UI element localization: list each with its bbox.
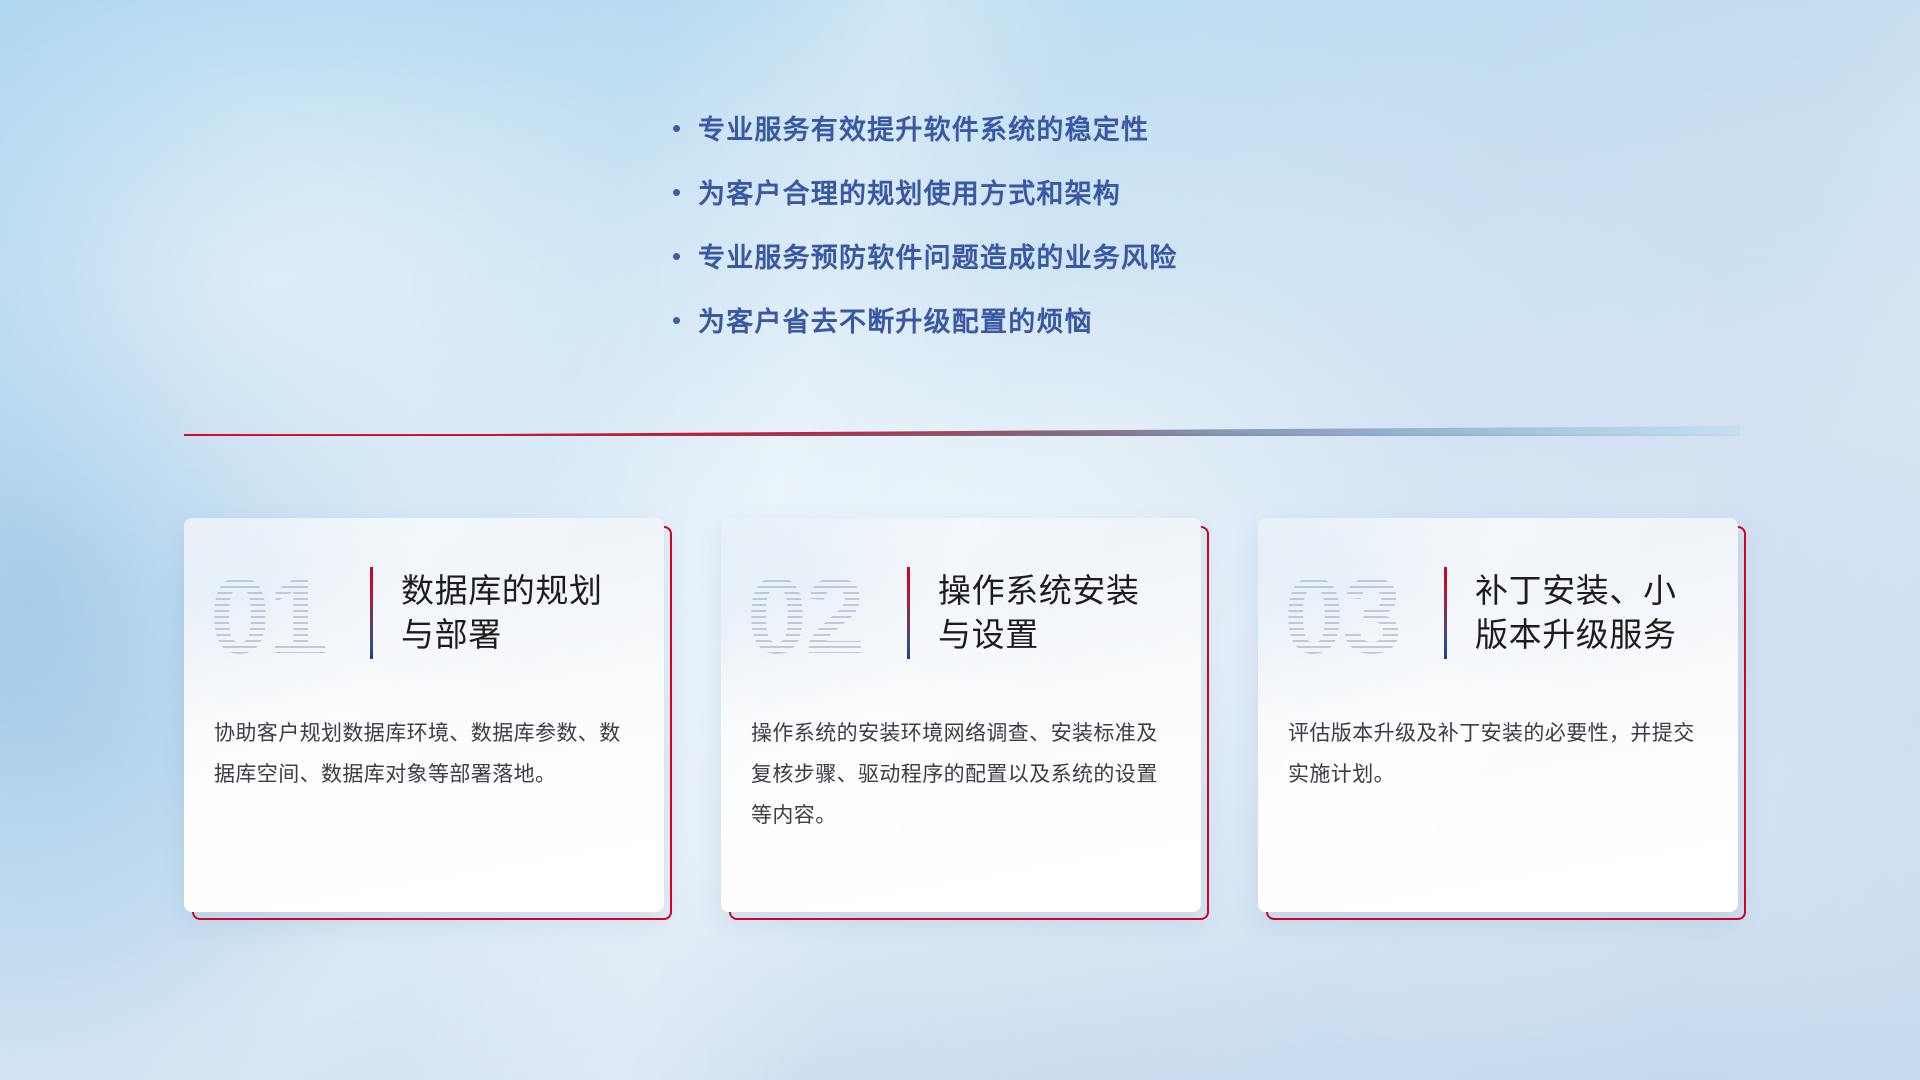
card-header: 02 操作系统安装 与设置 (721, 518, 1201, 708)
benefits-bullet-list: 专业服务有效提升软件系统的稳定性 为客户合理的规划使用方式和架构 专业服务预防软… (672, 108, 1432, 364)
card-title-rule (1444, 567, 1447, 659)
bullet-dot-icon (672, 243, 698, 269)
card-header: 01 数据库的规划 与部署 (184, 518, 664, 708)
divider-hairline (184, 434, 1740, 436)
card-title: 数据库的规划 与部署 (401, 569, 603, 657)
service-card-group: 01 数据库的规划 与部署 协助客户规划数据库环境、数据库参数、数据库空间、数据… (184, 518, 1740, 918)
card-description: 操作系统的安装环境网络调查、安装标准及复核步骤、驱动程序的配置以及系统的设置等内… (721, 714, 1201, 837)
card-number-watermark: 01 (210, 556, 370, 670)
card-number-watermark: 02 (747, 556, 907, 670)
card-description: 协助客户规划数据库环境、数据库参数、数据库空间、数据库对象等部署落地。 (184, 714, 664, 796)
card-title-rule (370, 567, 373, 659)
list-item: 为客户合理的规划使用方式和架构 (672, 172, 1432, 236)
card-surface: 02 操作系统安装 与设置 操作系统的安装环境网络调查、安装标准及复核步骤、驱动… (721, 518, 1201, 912)
card-description: 评估版本升级及补丁安装的必要性，并提交实施计划。 (1258, 714, 1738, 796)
card-title-rule (907, 567, 910, 659)
list-item: 专业服务有效提升软件系统的稳定性 (672, 108, 1432, 172)
bullet-item-label: 专业服务有效提升软件系统的稳定性 (698, 108, 1149, 147)
list-item: 为客户省去不断升级配置的烦恼 (672, 300, 1432, 364)
card-title: 操作系统安装 与设置 (938, 569, 1140, 657)
service-card-01[interactable]: 01 数据库的规划 与部署 协助客户规划数据库环境、数据库参数、数据库空间、数据… (184, 518, 664, 918)
service-card-02[interactable]: 02 操作系统安装 与设置 操作系统的安装环境网络调查、安装标准及复核步骤、驱动… (721, 518, 1201, 918)
card-number-watermark: 03 (1284, 556, 1444, 670)
card-header: 03 补丁安装、小 版本升级服务 (1258, 518, 1738, 708)
card-title: 补丁安装、小 版本升级服务 (1475, 569, 1677, 657)
card-surface: 01 数据库的规划 与部署 协助客户规划数据库环境、数据库参数、数据库空间、数据… (184, 518, 664, 912)
bullet-item-label: 为客户省去不断升级配置的烦恼 (698, 300, 1093, 339)
bullet-dot-icon (672, 115, 698, 141)
bullet-dot-icon (672, 307, 698, 333)
card-surface: 03 补丁安装、小 版本升级服务 评估版本升级及补丁安装的必要性，并提交实施计划… (1258, 518, 1738, 912)
bullet-dot-icon (672, 179, 698, 205)
list-item: 专业服务预防软件问题造成的业务风险 (672, 236, 1432, 300)
bullet-item-label: 为客户合理的规划使用方式和架构 (698, 172, 1121, 211)
section-divider (184, 420, 1740, 442)
bullet-item-label: 专业服务预防软件问题造成的业务风险 (698, 236, 1177, 275)
service-card-03[interactable]: 03 补丁安装、小 版本升级服务 评估版本升级及补丁安装的必要性，并提交实施计划… (1258, 518, 1738, 918)
